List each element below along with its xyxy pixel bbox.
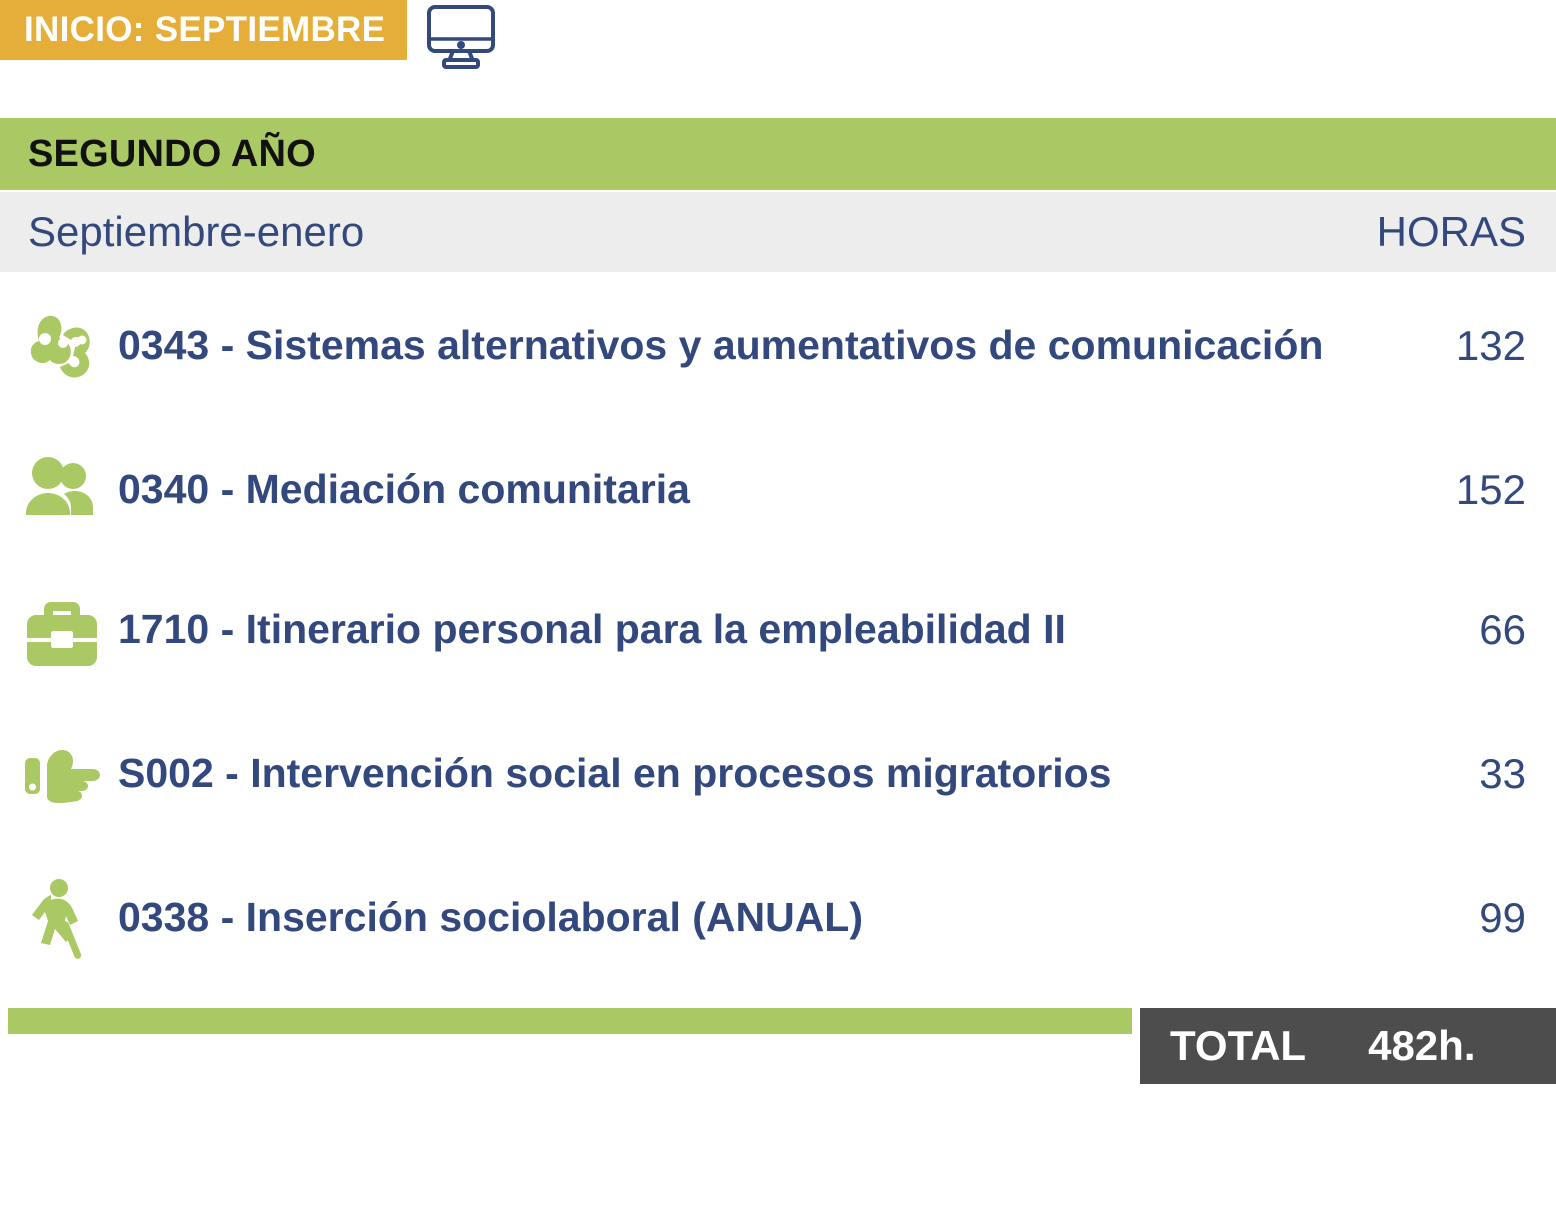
group-people-icon bbox=[14, 442, 110, 538]
module-hours: 66 bbox=[1416, 609, 1526, 651]
course-plan-card: INICIO: SEPTIEMBRE SEGUNDO AÑO Septiembr… bbox=[0, 0, 1556, 1207]
start-badge: INICIO: SEPTIEMBRE bbox=[0, 0, 407, 60]
module-title: 0338 - Inserción sociolaboral (ANUAL) bbox=[110, 892, 1416, 944]
module-title: 0343 - Sistemas alternativos y aumentati… bbox=[110, 320, 1416, 372]
module-row[interactable]: 0338 - Inserción sociolaboral (ANUAL) 99 bbox=[0, 848, 1556, 988]
year-banner-label: SEGUNDO AÑO bbox=[0, 135, 316, 173]
briefcase-icon bbox=[14, 582, 110, 678]
blind-person-cane-icon bbox=[14, 870, 110, 966]
module-list: 0343 - Sistemas alternativos y aumentati… bbox=[0, 272, 1556, 988]
module-hours: 152 bbox=[1416, 469, 1526, 511]
footer-green-divider bbox=[8, 1008, 1132, 1034]
start-badge-label: INICIO: SEPTIEMBRE bbox=[24, 12, 385, 47]
footer-total-section: TOTAL 482h. bbox=[0, 1008, 1556, 1084]
period-label: Septiembre-enero bbox=[0, 211, 364, 253]
module-row[interactable]: 0343 - Sistemas alternativos y aumentati… bbox=[0, 272, 1556, 420]
pointing-hand-icon bbox=[14, 726, 110, 822]
module-title: S002 - Intervención social en procesos m… bbox=[110, 748, 1416, 800]
year-banner: SEGUNDO AÑO bbox=[0, 118, 1556, 190]
sign-language-hands-icon bbox=[14, 298, 110, 394]
module-row[interactable]: 0340 - Mediación comunitaria 152 bbox=[0, 420, 1556, 560]
total-value: 482h. bbox=[1368, 1025, 1475, 1067]
module-hours: 33 bbox=[1416, 753, 1526, 795]
module-hours: 99 bbox=[1416, 897, 1526, 939]
start-row: INICIO: SEPTIEMBRE bbox=[0, 0, 1556, 78]
total-box: TOTAL 482h. bbox=[1140, 1008, 1556, 1084]
module-hours: 132 bbox=[1416, 325, 1526, 367]
total-label: TOTAL bbox=[1170, 1025, 1306, 1067]
period-hours-header: Septiembre-enero HORAS bbox=[0, 192, 1556, 272]
module-title: 1710 - Itinerario personal para la emple… bbox=[110, 604, 1416, 656]
module-title: 0340 - Mediación comunitaria bbox=[110, 464, 1416, 516]
module-row[interactable]: S002 - Intervención social en procesos m… bbox=[0, 700, 1556, 848]
hours-column-header: HORAS bbox=[1377, 211, 1556, 253]
module-row[interactable]: 1710 - Itinerario personal para la emple… bbox=[0, 560, 1556, 700]
desktop-monitor-icon bbox=[425, 4, 497, 75]
